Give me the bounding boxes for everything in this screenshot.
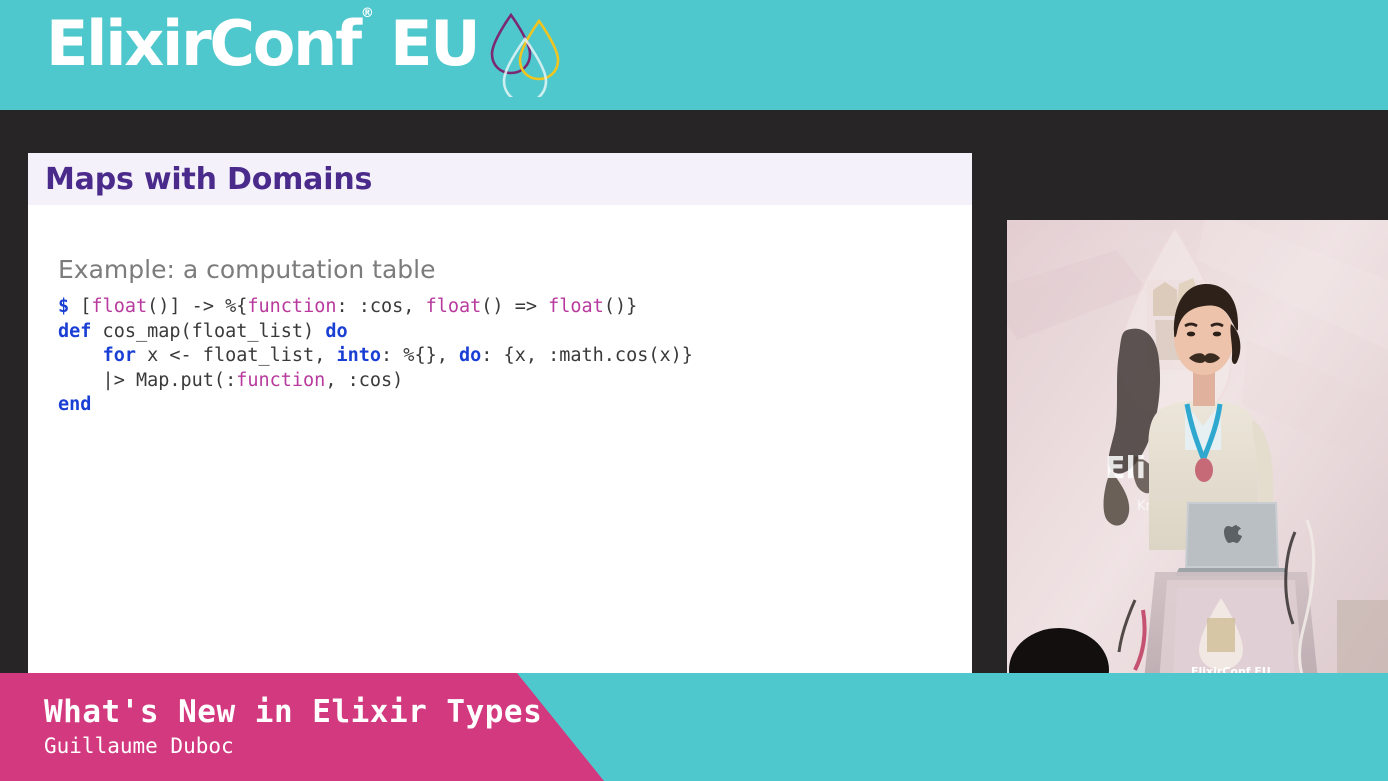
example-caption: Example: a computation table [58,255,435,284]
code-block: $ [float()] -> %{function: :cos, float()… [58,295,693,418]
code-line: for x <- float_list, into: %{}, do: {x, … [58,344,693,369]
code-token: def [58,321,91,342]
three-droplets-icon [486,7,568,97]
code-token: into [336,345,381,366]
brand-region: EU [390,7,478,80]
code-token: do [325,321,347,342]
code-line: $ [float()] -> %{function: :cos, float()… [58,295,693,320]
code-token: for [103,345,136,366]
code-token: : {x, :math.cos(x)} [481,345,693,366]
code-line: def cos_map(float_list) do [58,320,693,345]
elixirconf-logo: ElixirConf® EU [46,13,568,97]
code-token: do [459,345,481,366]
speaker-name: Guillaume Duboc [44,734,234,758]
code-token: ()] -> %{ [147,296,247,317]
code-token: () => [481,296,548,317]
conference-header: ElixirConf® EU [0,0,1388,110]
code-token: : :cos, [336,296,425,317]
code-token: cos_map(float_list) [91,321,325,342]
code-line: |> Map.put(:function, :cos) [58,369,693,394]
code-token: float [426,296,482,317]
code-token: float [548,296,604,317]
presentation-slide: Maps with Domains Example: a computation… [28,153,972,744]
code-token: [ [69,296,91,317]
code-token: , :cos) [325,370,403,391]
code-token: : %{}, [381,345,459,366]
svg-text:Eli: Eli [1105,451,1146,486]
stage-area: Maps with Domains Example: a computation… [0,110,1388,673]
brand-wordmark: ElixirConf® EU [46,13,478,75]
slide-title-band: Maps with Domains [28,153,972,205]
code-token: float [91,296,147,317]
slide-body: Example: a computation table $ [float()]… [28,205,972,725]
broadcast-overlay-root: ElixirConf® EU Maps with Domains Example… [0,0,1388,781]
code-token: ()} [604,296,637,317]
code-token: $ [58,296,69,317]
talk-title: What's New in Elixir Types [44,694,542,730]
code-token: function [236,370,325,391]
code-token: x <- float_list, [136,345,336,366]
registered-mark-icon: ® [361,6,372,21]
brand-name: ElixirConf [46,7,360,80]
code-token: function [247,296,336,317]
lower-third-strip: What's New in Elixir Types Guillaume Dub… [0,673,1388,781]
code-token: |> Map.put(: [58,370,236,391]
code-token: end [58,394,91,415]
slide-title: Maps with Domains [45,162,372,197]
code-token [58,345,103,366]
code-line: end [58,393,693,418]
